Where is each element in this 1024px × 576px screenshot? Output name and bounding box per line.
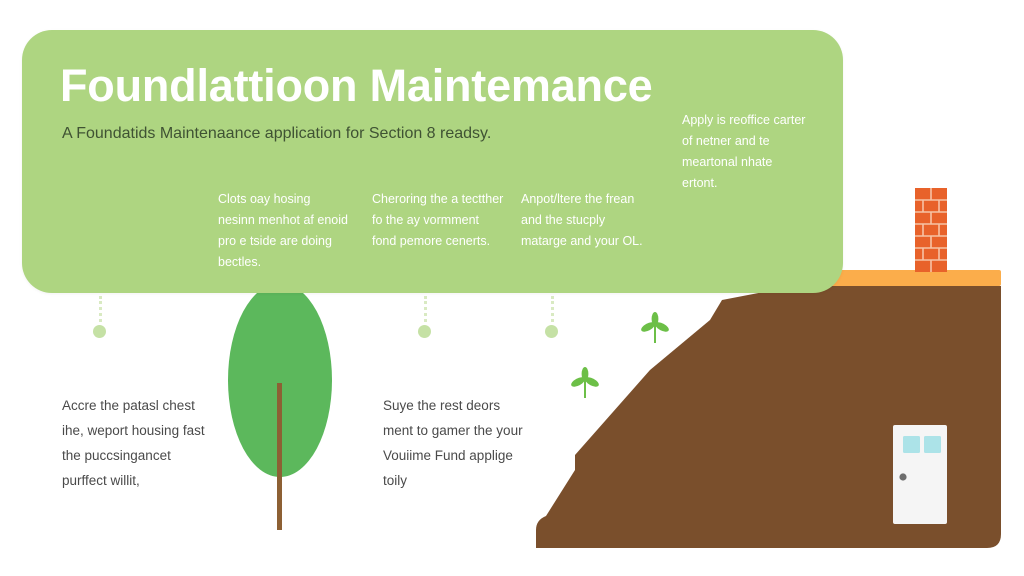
front-door-icon <box>893 425 947 524</box>
connector-line-3-lower <box>551 296 557 322</box>
soil-mound-icon <box>536 286 1001 548</box>
page-subtitle: A Foundatids Maintenaance application fo… <box>62 125 491 143</box>
tree-icon <box>228 283 332 530</box>
screenshot-canvas: Foundlattioon Maintemance A Foundatids M… <box>0 0 1024 576</box>
connector-dot-3 <box>545 325 558 338</box>
sprout-icon <box>570 312 671 448</box>
panel-column-3: Anpot/ltere the frean and the stucply ma… <box>521 189 653 252</box>
panel-column-1: Clots oay hosing nesinn menhot af enoid … <box>218 189 350 273</box>
connector-line-1-lower <box>99 296 105 322</box>
ground-note-middle: Suye the rest deors ment to gamer the yo… <box>383 394 533 494</box>
ground-note-left: Accre the patasl chest ihe, weport housi… <box>62 394 212 494</box>
connector-line-2-lower <box>424 296 430 322</box>
brick-chimney-icon <box>915 188 947 272</box>
page-title: Foundlattioon Maintemance <box>60 62 653 109</box>
panel-column-4: Apply is reoffice carter of netner and t… <box>682 110 806 194</box>
panel-column-2: Cheroring the a tectther fo the ay vormm… <box>372 189 504 252</box>
connector-dot-2 <box>418 325 431 338</box>
connector-dot-1 <box>93 325 106 338</box>
